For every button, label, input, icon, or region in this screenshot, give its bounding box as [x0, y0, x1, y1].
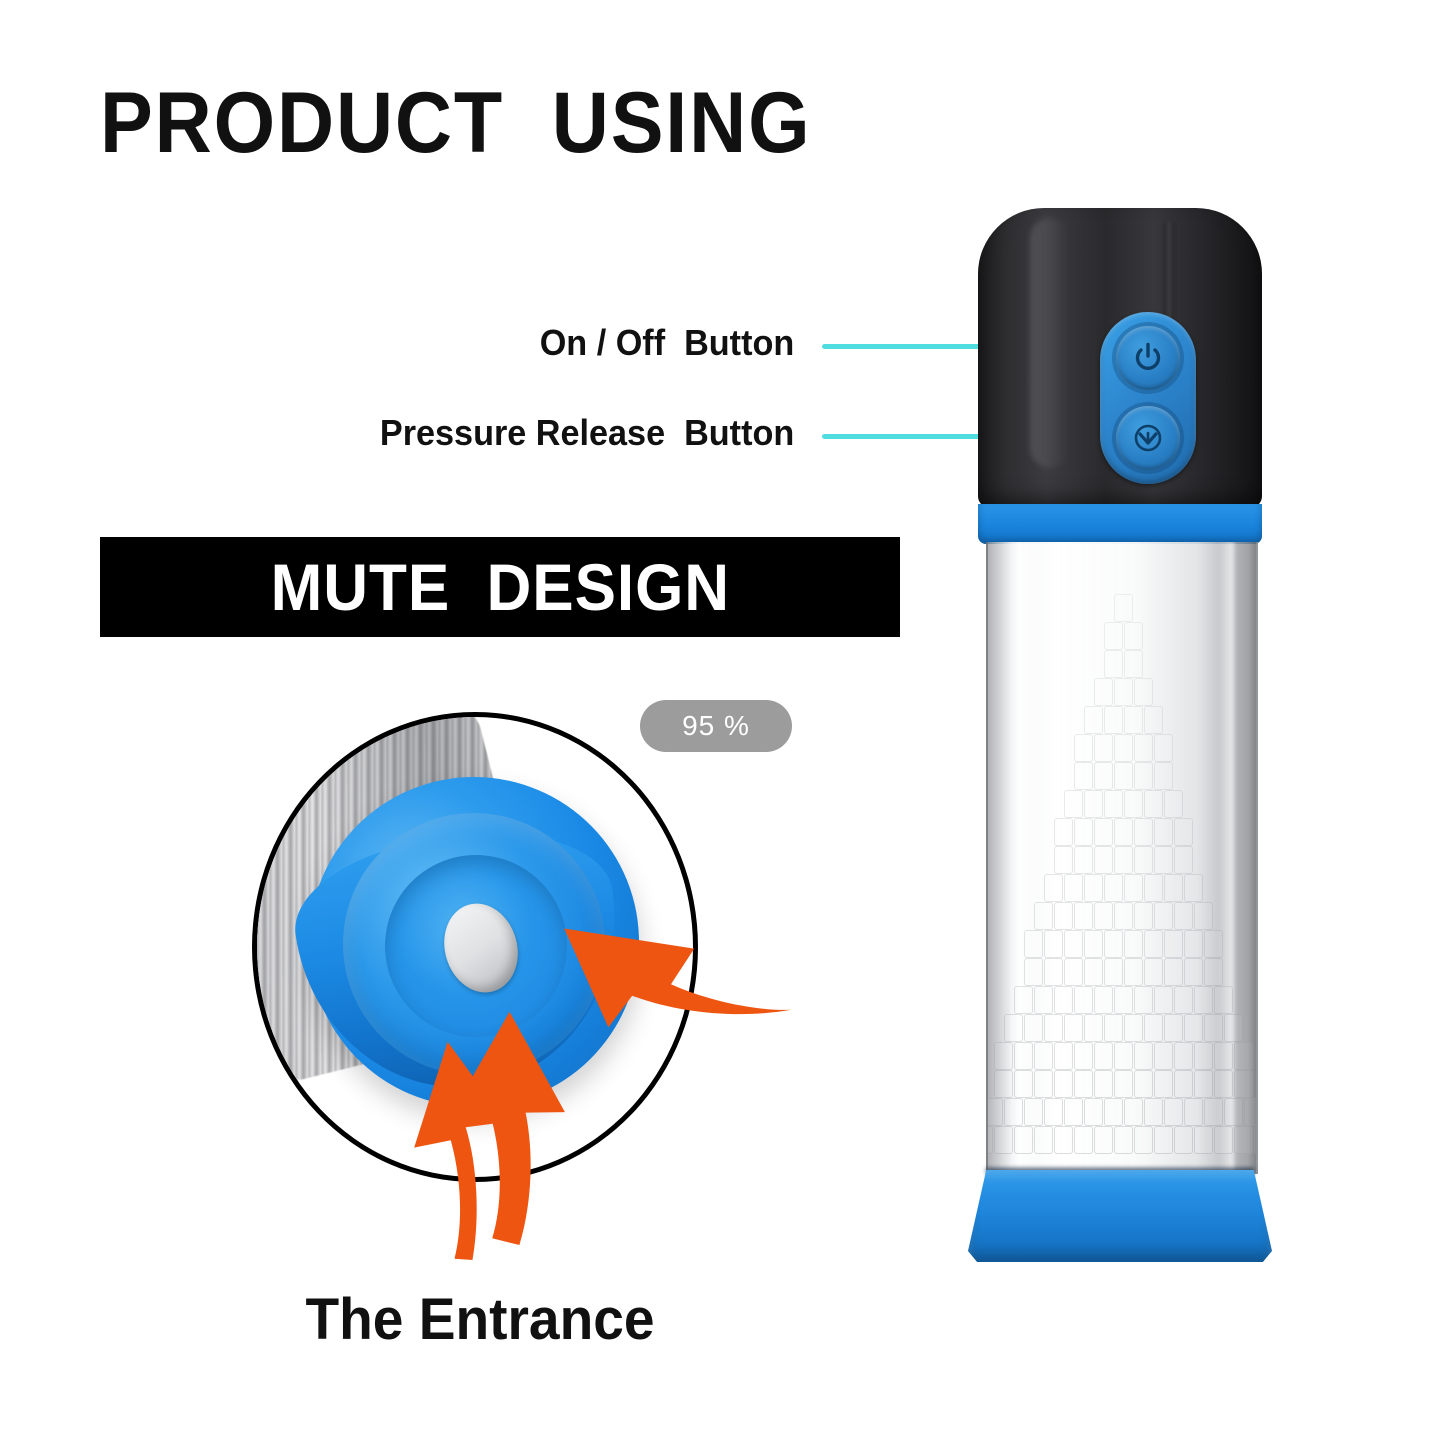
- tube-pattern-cell: [1134, 902, 1153, 930]
- tube-pattern-cell: [1024, 930, 1043, 958]
- tube-pattern-cell: [1094, 818, 1113, 846]
- tube-pattern-cell: [986, 1126, 993, 1154]
- tube-pattern-cell: [1124, 622, 1143, 650]
- tube-pattern-cell: [1214, 1042, 1233, 1070]
- tube-pattern-cell: [1044, 1014, 1063, 1042]
- tube-pattern-cell: [1234, 1126, 1253, 1154]
- tube-pattern-cell: [1074, 1042, 1093, 1070]
- tube-pattern-cell: [1184, 1098, 1203, 1126]
- tube-pattern-cell: [1144, 1098, 1163, 1126]
- tube-pattern-cell: [1094, 986, 1113, 1014]
- tube-pattern-cell: [1124, 1014, 1143, 1042]
- tube-pattern-cell: [1014, 1126, 1033, 1154]
- orange-arrow-icon-right: [556, 898, 786, 1028]
- tube-pattern-cell: [1024, 1098, 1043, 1126]
- tube-pattern-cell: [1164, 1098, 1183, 1126]
- tube-pattern-cell: [1144, 790, 1163, 818]
- tube-pattern-cell: [1134, 678, 1153, 706]
- tube-pattern-cell: [1094, 678, 1113, 706]
- tube-pattern-cell: [1054, 902, 1073, 930]
- tube-pattern-cell: [1044, 930, 1063, 958]
- pressure-release-icon: [1131, 421, 1165, 455]
- callout-label-pressure-release-button: Pressure Release Button: [196, 412, 795, 454]
- tube-pattern-cell: [1094, 1042, 1113, 1070]
- tube-pattern-cell: [1104, 622, 1123, 650]
- tube-pattern-cell: [1044, 958, 1063, 986]
- product-device-image: [960, 208, 1280, 1308]
- tube-pattern-cell: [1074, 818, 1093, 846]
- tube-pattern-cell: [1084, 706, 1103, 734]
- mute-design-banner: MUTE DESIGN: [100, 537, 900, 637]
- tube-pattern-cell: [1114, 902, 1133, 930]
- device-cap: [978, 208, 1262, 508]
- tube-pattern-cell: [1114, 734, 1133, 762]
- tube-pattern-cell: [1104, 874, 1123, 902]
- tube-pattern-cell: [1104, 706, 1123, 734]
- tube-pattern-cell: [1134, 734, 1153, 762]
- tube-pattern-cell: [1154, 846, 1173, 874]
- tube-pattern-cell: [1234, 1070, 1253, 1098]
- tube-pattern-cell: [1054, 1042, 1073, 1070]
- tube-pattern-cell: [1194, 986, 1213, 1014]
- tube-pattern-cell: [1074, 762, 1093, 790]
- tube-pattern-cell: [1034, 986, 1053, 1014]
- tube-pattern-cell: [1174, 902, 1193, 930]
- tube-pattern-cell: [1054, 986, 1073, 1014]
- device-base: [968, 1170, 1272, 1262]
- tube-pattern-cell: [1134, 846, 1153, 874]
- tube-pattern-cell: [1094, 846, 1113, 874]
- tube-pattern-cell: [1084, 790, 1103, 818]
- tube-pattern-cell: [1054, 846, 1073, 874]
- tube-pattern-cell: [1104, 958, 1123, 986]
- tube-pattern-cell: [1084, 874, 1103, 902]
- tube-pattern-cell: [1204, 1014, 1223, 1042]
- tube-pattern-cell: [1094, 1070, 1113, 1098]
- tube-pattern-cell: [1204, 958, 1223, 986]
- tube-pattern-cell: [1034, 1042, 1053, 1070]
- tube-pattern-cell: [1104, 930, 1123, 958]
- tube-pattern-cell: [1074, 846, 1093, 874]
- tube-pattern-cell: [1014, 1070, 1033, 1098]
- tube-pattern-cell: [1204, 930, 1223, 958]
- tube-pattern-cell: [1044, 874, 1063, 902]
- tube-pattern-cell: [1174, 1042, 1193, 1070]
- tube-pattern-cell: [1164, 790, 1183, 818]
- tube-pattern-cell: [1064, 790, 1083, 818]
- tube-pattern-cell: [1174, 986, 1193, 1014]
- tube-pattern-cell: [1124, 958, 1143, 986]
- percentage-badge-text: 95 %: [682, 710, 750, 742]
- tube-pattern-cell: [1064, 1014, 1083, 1042]
- tube-pattern-cell: [1154, 986, 1173, 1014]
- tube-pattern-cell: [1074, 902, 1093, 930]
- tube-pattern-cell: [1134, 818, 1153, 846]
- mute-design-banner-text: MUTE DESIGN: [270, 549, 729, 625]
- tube-pattern-cell: [1084, 958, 1103, 986]
- tube-pattern-cell: [1034, 902, 1053, 930]
- tube-pattern-cell: [1224, 1014, 1243, 1042]
- tube-pattern-cell: [1004, 1014, 1023, 1042]
- release-button[interactable]: [1116, 406, 1180, 470]
- tube-pattern-cell: [1124, 1098, 1143, 1126]
- tube-pattern-cell: [1134, 1126, 1153, 1154]
- tube-pattern-cell: [1054, 1126, 1073, 1154]
- tube-pattern-cell: [1124, 650, 1143, 678]
- tube-pattern-cell: [1224, 1098, 1243, 1126]
- percentage-badge: 95 %: [640, 700, 792, 752]
- tube-pattern-cell: [1064, 1098, 1083, 1126]
- tube-pattern-cell: [1044, 1098, 1063, 1126]
- product-infographic: PRODUCT USING On / Off Button Pressure R…: [0, 0, 1445, 1445]
- tube-pattern-cell: [1214, 1126, 1233, 1154]
- tube-pattern-cell: [1134, 1042, 1153, 1070]
- callout-label-on-off-button: On / Off Button: [196, 322, 795, 364]
- tube-pattern-cell: [994, 1070, 1013, 1098]
- tube-pattern-cell: [1124, 930, 1143, 958]
- tube-pattern-cell: [986, 1098, 1003, 1126]
- tube-pattern-cell: [1194, 902, 1213, 930]
- tube-pattern-cell: [1084, 1098, 1103, 1126]
- tube-pattern-cell: [1164, 1014, 1183, 1042]
- tube-pattern-cell: [1144, 958, 1163, 986]
- tube-pattern-cell: [1184, 1014, 1203, 1042]
- tube-pattern-cell: [1144, 874, 1163, 902]
- tube-pattern-cell: [1144, 1014, 1163, 1042]
- tube-pattern-cell: [1104, 650, 1123, 678]
- tube-pattern-cell: [1114, 1042, 1133, 1070]
- tube-pattern-cell: [1174, 818, 1193, 846]
- tube-pattern-cell: [1194, 1070, 1213, 1098]
- tube-pattern-cell: [1064, 958, 1083, 986]
- tube-pattern-cell: [1174, 1070, 1193, 1098]
- tube-pattern-cell: [1214, 1070, 1233, 1098]
- tube-pattern-cell: [1134, 762, 1153, 790]
- tube-pattern-cell: [1004, 1098, 1023, 1126]
- cap-highlight: [1030, 218, 1070, 468]
- tube-pattern-cell: [1174, 1126, 1193, 1154]
- tube-pattern-cell: [1074, 734, 1093, 762]
- tube-pattern-cell: [1034, 1126, 1053, 1154]
- button-pad: [1100, 312, 1196, 484]
- tube-pattern-cell: [1074, 1070, 1093, 1098]
- orange-arrow-icon-left: [406, 1042, 556, 1262]
- tube-pattern-cell: [1184, 874, 1203, 902]
- tube-pattern-cell: [1214, 986, 1233, 1014]
- tube-pattern-cell: [1114, 1126, 1133, 1154]
- tube-pattern-cell: [1154, 1126, 1173, 1154]
- tube-pattern-cell: [1114, 1070, 1133, 1098]
- tube-pattern-cell: [1234, 1042, 1253, 1070]
- tube-pattern-cell: [1154, 734, 1173, 762]
- tube-pattern-cell: [1124, 874, 1143, 902]
- tube-pattern-cell: [1144, 930, 1163, 958]
- tube-pattern-cell: [1114, 594, 1133, 622]
- tube-pattern-cell: [1114, 986, 1133, 1014]
- tube-pattern-cell: [1184, 930, 1203, 958]
- power-icon: [1131, 341, 1165, 375]
- tube-pattern-cell: [1094, 762, 1113, 790]
- tube-pattern-cell: [1124, 790, 1143, 818]
- entrance-caption: The Entrance: [195, 1286, 765, 1353]
- tube-pattern-cell: [1064, 930, 1083, 958]
- tube-pattern-cell: [1194, 1126, 1213, 1154]
- tube-pattern-cell: [1024, 958, 1043, 986]
- tube-pattern-cell: [1084, 1014, 1103, 1042]
- tube-pattern-cell: [1154, 1042, 1173, 1070]
- tube-pattern-cell: [1154, 818, 1173, 846]
- tube-pattern-cell: [1054, 1070, 1073, 1098]
- tube-pattern-cell: [1094, 902, 1113, 930]
- tube-pattern-cell: [1084, 930, 1103, 958]
- tube-pattern-cell: [1154, 902, 1173, 930]
- device-clear-tube: [986, 542, 1258, 1174]
- tube-pattern-cell: [1014, 986, 1033, 1014]
- tube-pattern-cell: [1144, 706, 1163, 734]
- tube-pattern-cell: [1204, 1098, 1223, 1126]
- tube-pattern-cell: [1164, 958, 1183, 986]
- tube-pattern-cell: [1124, 706, 1143, 734]
- tube-pattern-cell: [1094, 1126, 1113, 1154]
- tube-pattern-cell: [1254, 1126, 1259, 1154]
- tube-pattern-cell: [1014, 1042, 1033, 1070]
- tube-pattern-cell: [1064, 874, 1083, 902]
- tube-pattern-cell: [1094, 734, 1113, 762]
- tube-pattern-cell: [1104, 1098, 1123, 1126]
- tube-pattern-cell: [1034, 1070, 1053, 1098]
- tube-pattern-cell: [1074, 986, 1093, 1014]
- tube-pattern-cell: [1154, 1070, 1173, 1098]
- tube-pattern-cell: [994, 1126, 1013, 1154]
- tube-pattern-cell: [1244, 1098, 1259, 1126]
- tube-pattern-cell: [994, 1042, 1013, 1070]
- device-blue-band: [978, 504, 1262, 544]
- tube-pattern-cell: [1114, 678, 1133, 706]
- tube-pattern-cell: [1134, 986, 1153, 1014]
- tube-embossed-pattern: [988, 594, 1256, 1154]
- tube-pattern-cell: [1024, 1014, 1043, 1042]
- power-button[interactable]: [1116, 326, 1180, 390]
- tube-pattern-cell: [1164, 930, 1183, 958]
- tube-pattern-cell: [1114, 846, 1133, 874]
- tube-pattern-cell: [1174, 846, 1193, 874]
- tube-pattern-cell: [1154, 762, 1173, 790]
- tube-pattern-cell: [1114, 762, 1133, 790]
- tube-pattern-cell: [1134, 1070, 1153, 1098]
- tube-pattern-cell: [1104, 790, 1123, 818]
- page-title: PRODUCT USING: [100, 80, 812, 166]
- tube-pattern-cell: [1074, 1126, 1093, 1154]
- tube-pattern-cell: [1184, 958, 1203, 986]
- tube-pattern-cell: [1164, 874, 1183, 902]
- tube-pattern-cell: [1104, 1014, 1123, 1042]
- tube-pattern-cell: [1054, 818, 1073, 846]
- tube-pattern-cell: [1194, 1042, 1213, 1070]
- tube-pattern-cell: [1114, 818, 1133, 846]
